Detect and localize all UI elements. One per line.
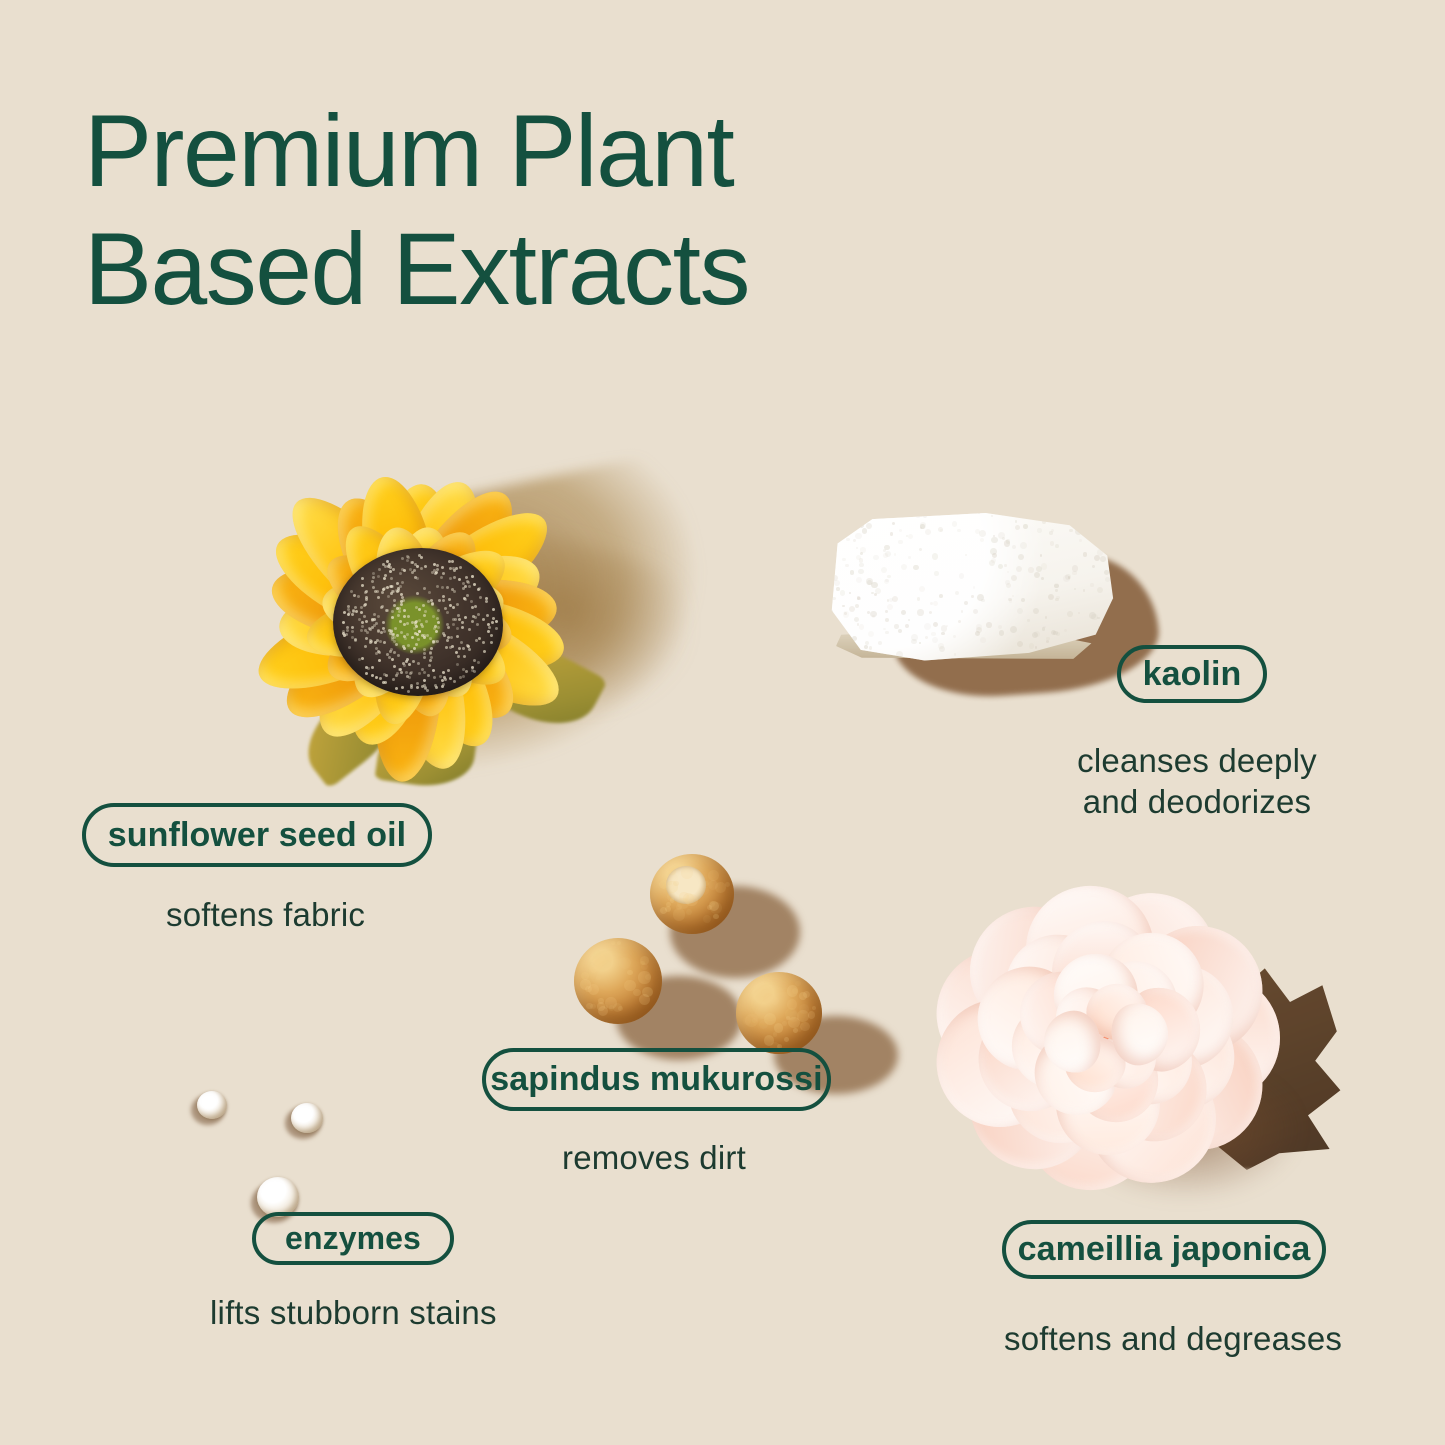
sunflower-seed — [436, 564, 439, 567]
kaolin-texture-speck — [917, 597, 921, 601]
sunflower-seed — [354, 638, 357, 641]
sunflower-seed — [371, 666, 374, 669]
berry-texture-bump — [803, 991, 811, 999]
kaolin-texture-speck — [925, 636, 928, 639]
sunflower-seed — [460, 641, 463, 644]
sunflower-seed — [396, 634, 399, 637]
sunflower-seed — [451, 560, 454, 563]
kaolin-texture-speck — [1067, 611, 1073, 617]
sunflower-seed — [473, 583, 476, 586]
kaolin-texture-speck — [976, 627, 982, 633]
soapberries-photo — [558, 850, 868, 1080]
kaolin-texture-speck — [884, 545, 889, 550]
sunflower-seed — [389, 650, 392, 653]
sunflower-seed — [461, 621, 464, 624]
sunflower-seed — [438, 599, 441, 602]
kaolin-texture-speck — [898, 629, 902, 633]
kaolin-texture-speck — [1034, 572, 1040, 578]
sunflower-seed — [375, 676, 378, 679]
kaolin-texture-speck — [1054, 583, 1059, 588]
berry-texture-bump — [700, 886, 709, 895]
kaolin-texture-speck — [856, 577, 862, 583]
kaolin-texture-speck — [852, 527, 855, 530]
sunflower-seed — [451, 645, 454, 648]
sunflower-seed — [390, 577, 393, 580]
berry-texture-bump — [586, 1003, 592, 1009]
kaolin-texture-speck — [865, 641, 869, 645]
kaolin-texture-speck — [971, 595, 974, 598]
sunflower-seed — [423, 656, 426, 659]
soapberry — [650, 854, 734, 934]
sunflower-seed — [449, 577, 452, 580]
sunflower-seed — [406, 633, 409, 636]
ingredient-pill-sapindus-mukurossi[interactable]: sapindus mukurossi — [482, 1048, 831, 1111]
kaolin-texture-speck — [908, 556, 911, 559]
kaolin-texture-speck — [933, 601, 938, 606]
sunflower-seed — [400, 671, 403, 674]
kaolin-texture-speck — [1006, 583, 1011, 588]
sunflower-seed — [393, 640, 396, 643]
kaolin-texture-speck — [981, 599, 985, 603]
sunflower-seed — [441, 566, 444, 569]
sunflower-seed — [383, 673, 386, 676]
kaolin-texture-speck — [978, 512, 980, 514]
berry-texture-bump — [613, 1003, 622, 1012]
sunflower-seed — [435, 630, 438, 633]
kaolin-texture-speck — [1097, 617, 1099, 619]
sunflower-seed — [468, 628, 471, 631]
sunflower-seed — [411, 636, 414, 639]
kaolin-texture-speck — [883, 628, 885, 630]
sunflower-seed — [355, 610, 358, 613]
sunflower-seed — [457, 655, 460, 658]
sunflower-seed — [452, 606, 455, 609]
sunflower-seed — [466, 580, 469, 583]
kaolin-texture-speck — [858, 569, 864, 575]
sunflower-seed — [452, 618, 455, 621]
kaolin-texture-speck — [919, 548, 922, 551]
kaolin-texture-speck — [901, 564, 907, 570]
sunflower-seed — [445, 646, 448, 649]
sunflower-seed — [423, 679, 426, 682]
kaolin-texture-speck — [1104, 570, 1109, 575]
kaolin-texture-speck — [932, 553, 939, 560]
kaolin-texture-speck — [1079, 539, 1083, 543]
kaolin-texture-speck — [986, 622, 991, 627]
kaolin-texture-speck — [1008, 598, 1012, 602]
sunflower-seed — [374, 641, 377, 644]
kaolin-texture-speck — [869, 646, 873, 650]
kaolin-texture-speck — [929, 611, 933, 615]
sunflower-seed — [367, 667, 370, 670]
berry-texture-bump — [708, 880, 718, 890]
sunflower-seed — [393, 599, 396, 602]
kaolin-texture-speck — [1050, 541, 1055, 546]
sunflower-seed — [361, 625, 364, 628]
berry-texture-bump — [596, 976, 600, 980]
kaolin-texture-speck — [1015, 525, 1020, 530]
sunflower-seed — [463, 655, 466, 658]
sunflower-seed — [378, 659, 381, 662]
enzyme-granule — [197, 1091, 227, 1119]
kaolin-texture-speck — [1083, 516, 1087, 520]
sunflower-seed — [379, 677, 382, 680]
kaolin-texture-speck — [964, 601, 969, 606]
sunflower-seed — [403, 609, 406, 612]
kaolin-texture-speck — [931, 632, 935, 636]
sunflower-seed — [357, 595, 360, 598]
sunflower-seed — [420, 567, 423, 570]
sunflower-seed — [398, 607, 401, 610]
sunflower-seed — [448, 560, 451, 563]
sunflower-seed — [391, 658, 394, 661]
kaolin-texture-speck — [874, 593, 877, 596]
kaolin-texture-speck — [1090, 583, 1094, 587]
kaolin-texture-speck — [872, 615, 875, 618]
sunflower-seed — [471, 620, 474, 623]
sunflower-seed — [407, 690, 410, 693]
pill-label: enzymes — [285, 1220, 421, 1257]
berry-texture-bump — [627, 970, 632, 975]
sunflower-seed — [365, 637, 368, 640]
kaolin-texture-speck — [1092, 565, 1095, 568]
sunflower-seed — [391, 610, 394, 613]
kaolin-texture-speck — [828, 652, 831, 655]
kaolin-texture-speck — [1034, 631, 1040, 637]
sunflower-seed — [492, 608, 495, 611]
sunflower-seed — [392, 568, 395, 571]
sunflower-seed — [384, 565, 387, 568]
sunflower-seed — [441, 679, 444, 682]
sunflower-seed — [372, 586, 375, 589]
kaolin-texture-speck — [1040, 554, 1043, 557]
sunflower-seed — [446, 639, 449, 642]
sunflower-seed — [416, 682, 419, 685]
berry-texture-bump — [670, 898, 674, 902]
sunflower-seed — [420, 623, 423, 626]
sunflower-seed — [485, 600, 488, 603]
berry-texture-bump — [600, 968, 604, 972]
kaolin-chunk — [826, 510, 1116, 662]
ingredient-pill-enzymes[interactable]: enzymes — [252, 1212, 454, 1265]
kaolin-texture-speck — [1036, 566, 1042, 572]
sunflower-seed — [392, 678, 395, 681]
sunflower-seed — [442, 572, 445, 575]
sunflower-seed — [354, 606, 357, 609]
sunflower-seed — [451, 588, 454, 591]
kaolin-texture-speck — [1063, 575, 1070, 582]
kaolin-texture-speck — [933, 622, 938, 627]
kaolin-texture-speck — [1056, 632, 1060, 636]
berry-texture-bump — [640, 961, 644, 965]
sunflower-seed — [364, 645, 367, 648]
sunflower-seed — [447, 626, 450, 629]
sunflower-seed — [424, 610, 427, 613]
sunflower-seed — [384, 681, 387, 684]
sunflower-seed — [435, 571, 438, 574]
sunflower-seed — [444, 607, 447, 610]
kaolin-texture-speck — [889, 598, 893, 602]
kaolin-texture-speck — [991, 537, 997, 543]
kaolin-texture-speck — [834, 636, 838, 640]
kaolin-texture-speck — [1010, 626, 1017, 633]
sunflower-seed — [363, 615, 366, 618]
sunflower-seed — [401, 581, 404, 584]
sunflower-seed — [436, 617, 439, 620]
kaolin-texture-speck — [856, 547, 858, 549]
sunflower-seed — [361, 621, 364, 624]
sunflower-seed — [479, 596, 482, 599]
kaolin-texture-speck — [1018, 554, 1024, 560]
sunflower-seed — [432, 669, 435, 672]
sunflower-seed — [462, 647, 465, 650]
kaolin-texture-speck — [973, 586, 976, 589]
kaolin-clay-photo — [826, 492, 1156, 712]
sunflower-seed — [421, 625, 424, 628]
sunflower-seed — [385, 609, 388, 612]
sunflower-seed — [373, 613, 376, 616]
kaolin-texture-speck — [829, 531, 833, 535]
sunflower-seed — [406, 559, 409, 562]
sunflower-seed — [475, 639, 478, 642]
sunflower-seed — [468, 648, 471, 651]
sunflower-seed — [476, 623, 479, 626]
sunflower-seed — [353, 594, 356, 597]
sunflower-seed — [457, 614, 460, 617]
sunflower-seed — [395, 643, 398, 646]
kaolin-texture-speck — [905, 624, 909, 628]
kaolin-texture-speck — [1046, 637, 1049, 640]
ingredient-caption-cameillia-japonica: softens and degreases — [1004, 1318, 1342, 1359]
pill-label: sapindus mukurossi — [490, 1060, 822, 1099]
sunflower-seed — [467, 645, 470, 648]
sunflower-seed — [428, 664, 431, 667]
sunflower-seed — [377, 575, 380, 578]
kaolin-texture-speck — [892, 522, 895, 525]
sunflower-seed — [436, 585, 439, 588]
sunflower-seed — [416, 592, 419, 595]
berry-texture-bump — [773, 1032, 777, 1036]
kaolin-texture-speck — [958, 620, 961, 623]
sunflower-seed — [443, 676, 446, 679]
ingredient-pill-cameillia-japonica[interactable]: cameillia japonica — [1002, 1220, 1326, 1279]
kaolin-texture-speck — [961, 610, 964, 613]
sunflower-seed — [350, 590, 353, 593]
sunflower-seed — [403, 623, 406, 626]
sunflower-seed — [464, 585, 467, 588]
sunflower-seed — [465, 670, 468, 673]
kaolin-texture-speck — [919, 586, 925, 592]
kaolin-texture-speck — [941, 625, 947, 631]
sunflower-seed — [402, 599, 405, 602]
kaolin-texture-speck — [934, 571, 938, 575]
kaolin-texture-speck — [849, 606, 855, 612]
ingredient-pill-kaolin[interactable]: kaolin — [1117, 645, 1267, 703]
sunflower-seed — [450, 636, 453, 639]
sunflower-seed — [394, 627, 397, 630]
berry-texture-bump — [795, 981, 801, 987]
sunflower-seed — [390, 592, 393, 595]
kaolin-texture-speck — [1078, 612, 1080, 614]
sunflower-seed — [455, 567, 458, 570]
sunflower-seed — [399, 585, 402, 588]
sunflower-seed — [423, 636, 426, 639]
kaolin-texture-speck — [1021, 598, 1025, 602]
berry-texture-bump — [755, 1006, 768, 1019]
kaolin-texture-speck — [1102, 540, 1104, 542]
kaolin-texture-speck — [1012, 545, 1016, 549]
ingredient-pill-sunflower-seed-oil[interactable]: sunflower seed oil — [82, 803, 432, 867]
kaolin-texture-speck — [932, 637, 938, 643]
sunflower-seed — [442, 671, 445, 674]
kaolin-texture-speck — [1007, 571, 1009, 573]
sunflower-seed — [477, 613, 480, 616]
berry-texture-bump — [580, 979, 591, 990]
kaolin-texture-speck — [868, 631, 874, 637]
kaolin-texture-speck — [1108, 537, 1112, 541]
kaolin-texture-speck — [991, 558, 996, 563]
sunflower-seed — [391, 616, 394, 619]
sunflower-seed — [455, 651, 458, 654]
kaolin-texture-speck — [941, 632, 944, 635]
sunflower-seed — [417, 638, 420, 641]
sunflower-seed — [428, 591, 431, 594]
kaolin-texture-speck — [1056, 596, 1060, 600]
berry-texture-bump — [774, 1023, 784, 1033]
ingredient-caption-enzymes: lifts stubborn stains — [210, 1292, 497, 1333]
kaolin-texture-speck — [938, 643, 943, 648]
sunflower-seed — [407, 644, 410, 647]
kaolin-texture-speck — [1074, 588, 1076, 590]
sunflower-seed — [462, 675, 465, 678]
sunflower-seed — [401, 557, 404, 560]
kaolin-texture-speck — [916, 514, 919, 517]
kaolin-texture-speck — [1016, 566, 1022, 572]
sunflower-seed — [414, 563, 417, 566]
kaolin-texture-speck — [885, 610, 888, 613]
sunflower-seed — [459, 566, 462, 569]
enzyme-granule — [257, 1177, 299, 1217]
kaolin-texture-speck — [834, 580, 840, 586]
kaolin-texture-speck — [965, 554, 967, 556]
kaolin-texture-speck — [998, 625, 1002, 629]
kaolin-texture-speck — [913, 565, 918, 570]
sunflower-seed — [410, 686, 413, 689]
sunflower-seed — [474, 605, 477, 608]
berry-texture-bump — [660, 907, 667, 914]
kaolin-texture-speck — [939, 594, 943, 598]
kaolin-texture-speck — [850, 570, 855, 575]
sunflower-seed — [473, 659, 476, 662]
sunflower-seed — [442, 599, 445, 602]
kaolin-texture-speck — [954, 653, 957, 656]
berry-texture-bump — [797, 1026, 802, 1031]
kaolin-texture-speck — [1072, 571, 1076, 575]
sunflower-seed — [461, 626, 464, 629]
sunflower-seed — [425, 620, 428, 623]
berry-texture-bump — [808, 1011, 816, 1019]
kaolin-texture-speck — [1090, 512, 1096, 518]
sunflower-seed — [403, 569, 406, 572]
kaolin-texture-speck — [923, 514, 927, 518]
sunflower-seed — [465, 576, 468, 579]
kaolin-texture-speck — [1015, 520, 1017, 522]
ingredient-caption-sunflower-seed-oil: softens fabric — [166, 894, 365, 935]
sunflower-seed — [365, 598, 368, 601]
sunflower-seed — [387, 595, 390, 598]
berry-texture-bump — [624, 980, 635, 991]
sunflower-seed — [393, 651, 396, 654]
sunflower-seed — [429, 652, 432, 655]
sunflower-seed — [437, 609, 440, 612]
sunflower-seed — [410, 561, 413, 564]
kaolin-texture-speck — [855, 604, 859, 608]
sunflower-seed — [407, 615, 410, 618]
sunflower-seed — [403, 615, 406, 618]
sunflower-seed — [406, 622, 409, 625]
kaolin-texture-speck — [1004, 564, 1007, 567]
kaolin-texture-speck — [1048, 594, 1054, 600]
sunflower-seed — [427, 674, 430, 677]
sunflower-seed — [405, 671, 408, 674]
sunflower-seed — [358, 658, 361, 661]
sunflower-seed — [397, 654, 400, 657]
sunflower-seed — [422, 604, 425, 607]
sunflower-seed — [411, 571, 414, 574]
kaolin-texture-speck — [998, 532, 1005, 539]
sunflower-seed — [468, 585, 471, 588]
sunflower-seed — [351, 626, 354, 629]
kaolin-texture-speck — [859, 624, 864, 629]
sunflower-seed — [452, 623, 455, 626]
sunflower-seed — [343, 611, 346, 614]
sunflower-seed — [360, 606, 363, 609]
sunflower-seed — [441, 586, 444, 589]
sunflower-seed — [473, 670, 476, 673]
sunflower-seed — [423, 648, 426, 651]
sunflower-seed — [413, 627, 416, 630]
kaolin-texture-speck — [1105, 577, 1110, 582]
berry-texture-bump — [611, 941, 615, 945]
kaolin-texture-speck — [999, 630, 1004, 635]
sunflower-seed — [432, 615, 435, 618]
berry-texture-bump — [713, 914, 719, 920]
ingredient-caption-sapindus-mukurossi: removes dirt — [562, 1137, 746, 1178]
kaolin-texture-speck — [853, 539, 856, 542]
berry-texture-bump — [784, 1037, 789, 1042]
sunflower-seed — [382, 588, 385, 591]
sunflower-seed — [416, 686, 419, 689]
kaolin-texture-speck — [859, 563, 863, 567]
kaolin-texture-speck — [842, 605, 845, 608]
sunflower-seed — [432, 641, 435, 644]
sunflower-seed — [464, 616, 467, 619]
sunflower-seed — [482, 641, 485, 644]
sunflower-seed — [378, 568, 381, 571]
sunflower-seed — [459, 676, 462, 679]
kaolin-texture-speck — [832, 597, 835, 600]
kaolin-texture-speck — [866, 523, 872, 529]
sunflower-seed — [449, 677, 452, 680]
sunflower-seed — [471, 575, 474, 578]
kaolin-texture-speck — [1046, 640, 1049, 643]
berry-texture-bump — [686, 909, 692, 915]
sunflower-seed — [393, 636, 396, 639]
sunflower-seed — [382, 621, 385, 624]
kaolin-texture-speck — [855, 533, 861, 539]
kaolin-texture-speck — [959, 573, 964, 578]
sunflower-seed — [488, 626, 491, 629]
